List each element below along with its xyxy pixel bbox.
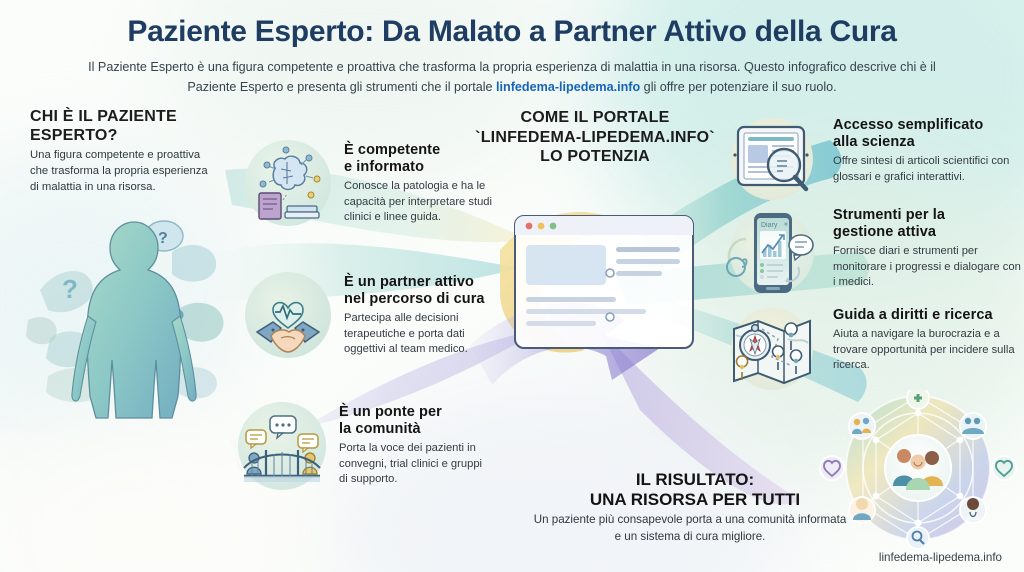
center-heading-line1: COME IL PORTALE [465,108,725,128]
header: Paziente Esperto: Da Malato a Partner At… [0,14,1024,97]
smartphone-chart-diary-icon: Diary [722,205,822,305]
tablet-magnifier-icon [722,115,822,208]
page-title: Paziente Esperto: Da Malato a Partner At… [0,14,1024,49]
result-heading: IL RISULTATO: UNA RISORSA PER TUTTI [545,470,845,511]
result-heading-line1: IL RISULTATO: [545,470,845,490]
brain-books-network-icon [243,138,333,233]
bridge-community-icon [236,400,328,497]
tool-title-line2: alla scienza [833,134,915,150]
result-description: Un paziente più consapevole porta a una … [530,512,850,546]
tool-item-accesso: Accesso semplificato alla scienza Offre … [722,115,1022,208]
portal-link[interactable]: linfedema-lipedema.info [496,80,640,94]
tool-title-line1: Guida a diritti e ricerca [833,307,993,323]
svg-text:?: ? [158,230,168,247]
tool-title-line1: Accesso semplificato [833,117,983,133]
tool-description: Aiuta a navigare la burocrazia e a trova… [833,327,1022,374]
trait-title-line1: È un partner attivo [344,274,474,290]
patient-silhouette-with-questions: ? ? ? [22,190,272,420]
trait-text: È un partner attivo nel percorso di cura… [344,270,493,358]
trait-text: È competente e informato Conosce la pato… [344,138,493,226]
trait-title-line2: e informato [344,159,424,175]
footer-url[interactable]: linfedema-lipedema.info [879,551,1002,564]
tool-text: Accesso semplificato alla scienza Offre … [833,115,1022,185]
result-heading-line2: UNA RISORSA PER TUTTI [545,490,845,510]
tool-title: Strumenti per la gestione attiva [833,207,1022,241]
trait-description: Conosce la patologia e ha le capacità pe… [344,179,493,226]
handshake-heartbeat-icon [243,270,333,365]
tool-title: Guida a diritti e ricerca [833,307,1022,324]
phone-screen-label: Diary [761,222,778,229]
tool-item-gestione: Diary [722,205,1022,305]
tool-title: Accesso semplificato alla scienza [833,117,1022,151]
trait-title-line2: nel percorso di cura [344,291,485,307]
trait-title-line1: È competente [344,142,440,158]
trait-title: È un partner attivo nel percorso di cura [344,274,493,308]
map-compass-pins-icon [722,305,822,398]
left-section-heading: CHI È IL PAZIENTE ESPERTO? [30,108,240,145]
trait-item-ponte: È un ponte per la comunità Porta la voce… [236,400,491,497]
infographic-canvas: Paziente Esperto: Da Malato a Partner At… [0,0,1024,572]
trait-title: È un ponte per la comunità [339,404,491,438]
tool-item-guida: Guida a diritti e ricerca Aiuta a naviga… [722,305,1022,398]
trait-item-competente: È competente e informato Conosce la pato… [243,138,493,233]
trait-description: Porta la voce dei pazienti in convegni, … [339,441,491,488]
trait-title-line1: È un ponte per [339,404,442,420]
tool-text: Strumenti per la gestione attiva Fornisc… [833,205,1022,291]
trait-item-partner: È un partner attivo nel percorso di cura… [243,270,493,365]
trait-description: Partecipa alle decisioni terapeutiche e … [344,311,493,358]
browser-window-with-flow-arrows [512,213,697,353]
trait-text: È un ponte per la comunità Porta la voce… [339,400,491,488]
tool-text: Guida a diritti e ricerca Aiuta a naviga… [833,305,1022,374]
center-section-heading: COME IL PORTALE `LINFEDEMA-LIPEDEMA.INFO… [465,108,725,167]
tool-title-line1: Strumenti per la [833,207,945,223]
tool-description: Offre sintesi di articoli scientifici co… [833,154,1022,185]
left-section-description: Una figura competente e proattiva che tr… [30,148,210,195]
trait-title: È competente e informato [344,142,493,176]
center-heading-line2: `LINFEDEMA-LIPEDEMA.INFO` [465,128,725,148]
tool-title-line2: gestione attiva [833,224,936,240]
center-heading-line3: LO POTENZIA [465,147,725,167]
tool-description: Fornisce diari e strumenti per monitorar… [833,244,1022,291]
page-subtitle: Il Paziente Esperto è una figura compete… [72,58,952,96]
trait-title-line2: la comunità [339,421,421,437]
svg-text:?: ? [62,274,78,304]
subtitle-text-after: gli offre per potenziare il suo ruolo. [640,80,836,94]
